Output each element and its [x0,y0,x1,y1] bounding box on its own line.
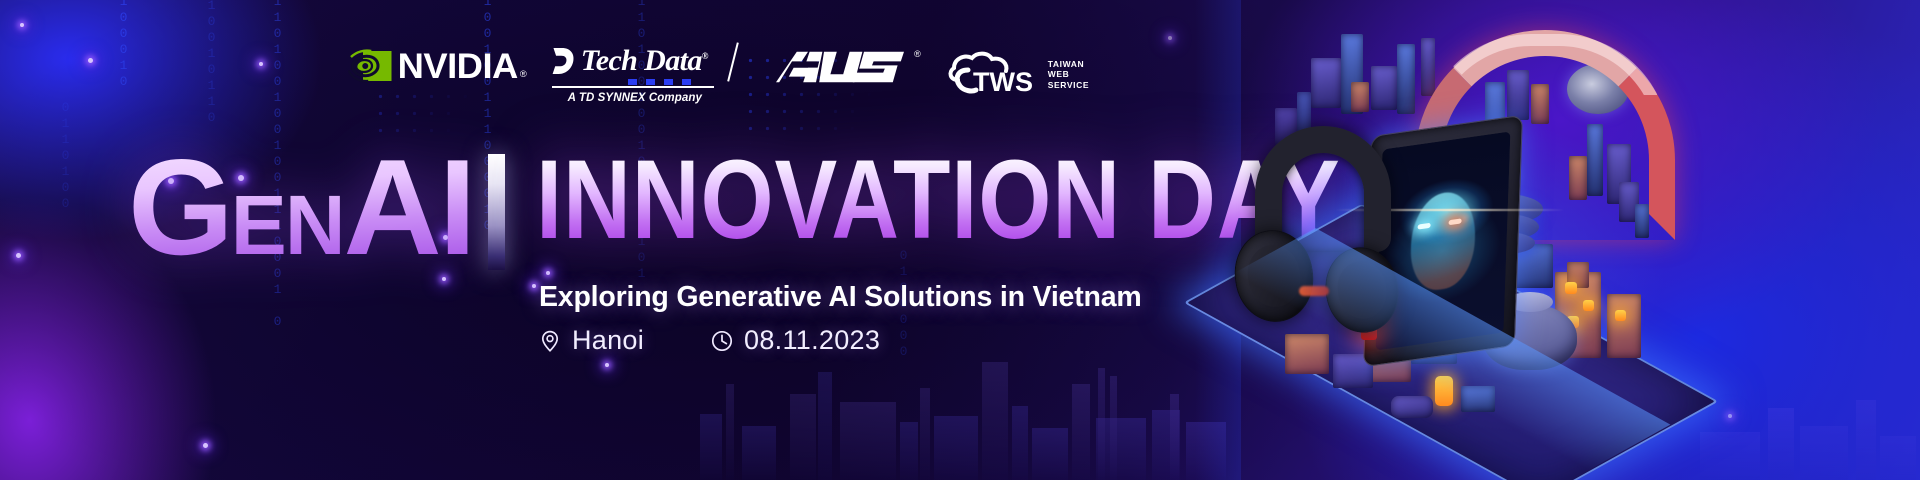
sponsor-logo-row: NVIDIA® Tech Data® A TD SYNNEX Company [348,40,1089,102]
nvidia-wordmark: NVIDIA® [398,49,525,84]
event-meta-row: Hanoi 08.11.2023 [538,325,880,356]
techdata-slash-accent [727,42,739,81]
genai-letters-ai: AI [344,131,474,283]
sponsor-logo-nvidia[interactable]: NVIDIA® [348,40,522,84]
page-subtitle: Exploring Generative AI Solutions in Vie… [539,281,1142,314]
tws-tagline-line: TAIWAN [1048,59,1089,70]
registered-mark: ® [702,51,708,61]
clock-icon [710,329,734,353]
techdata-tagline: A TD SYNNEX Company [550,92,720,104]
genai-innovation-day-banner: 100010 1101001001001110001 0 10010011100… [0,0,1920,480]
techdata-wordmark: Tech Data® [581,46,708,76]
sponsor-logo-asus[interactable]: ® [776,40,912,84]
techdata-d-icon [550,46,576,76]
asus-logo-icon [776,50,912,84]
registered-mark: ® [914,49,921,59]
headline-divider-bar [488,154,505,270]
tws-tagline: TAIWAN WEB SERVICE [1048,59,1089,95]
genai-letters-en: EN [231,178,344,272]
svg-text:TWS: TWS [973,67,1033,96]
sponsor-logo-tws[interactable]: TWS TAIWAN WEB SERVICE [946,40,1089,94]
tws-tagline-line: WEB [1048,69,1089,80]
date-label: 08.11.2023 [744,325,880,356]
genai-wordmark: GENAI [128,150,474,264]
techdata-underline [550,79,716,88]
nvidia-eye-icon [348,48,393,84]
tws-cloud-icon: TWS [946,50,1042,94]
ai-city-illustration [1215,4,1695,476]
location-label: Hanoi [572,325,644,356]
map-pin-icon [538,329,562,353]
genai-letter-g: G [128,131,231,283]
event-date: 08.11.2023 [710,325,880,356]
registered-mark: ® [520,69,526,79]
tws-tagline-line: SERVICE [1048,80,1089,91]
event-location: Hanoi [538,325,644,356]
sponsor-logo-techdata[interactable]: Tech Data® A TD SYNNEX Company [550,40,720,104]
